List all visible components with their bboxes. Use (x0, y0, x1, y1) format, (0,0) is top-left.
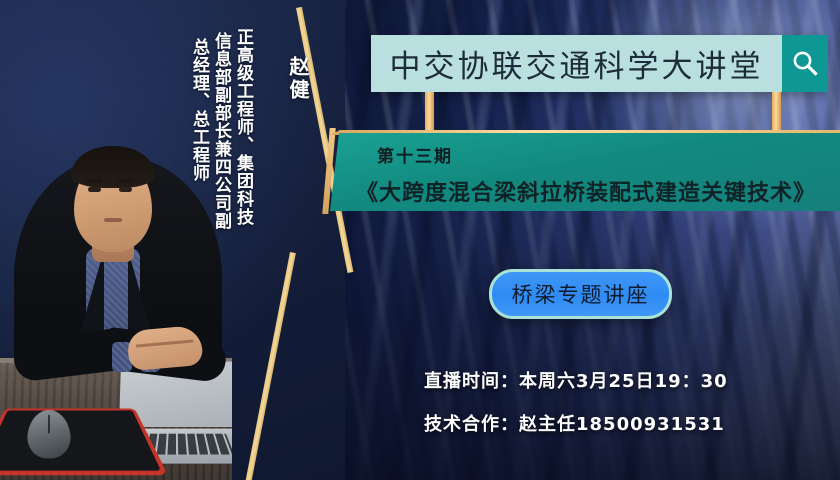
contact-info: 技术合作：赵主任18500931531 (424, 410, 725, 436)
search-button[interactable] (782, 35, 828, 92)
search-icon (790, 49, 820, 79)
webinar-poster: 总经理、总工程师 信息部副部长兼四公司副 正高级工程师、集团科技 赵健 中交协联… (0, 0, 840, 480)
category-pill-label: 桥梁专题讲座 (512, 279, 650, 309)
speaker-name: 赵健 (283, 56, 312, 102)
banner-post-right (772, 92, 781, 136)
banner-title-box: 中交协联交通科学大讲堂 (371, 35, 782, 92)
eyebrow-left (86, 179, 102, 183)
speaker-credential-3: 正高级工程师、集团科技 (231, 28, 256, 226)
broadcast-time: 直播时间：本周六3月25日19：30 (424, 367, 728, 393)
issue-label: 第十三期 (377, 142, 453, 167)
title-banner: 中交协联交通科学大讲堂 (371, 35, 828, 92)
hair (71, 146, 155, 188)
eyebrow-right (117, 179, 133, 183)
eye-right (119, 187, 132, 192)
category-pill[interactable]: 桥梁专题讲座 (489, 269, 672, 319)
banner-post-left (425, 92, 434, 136)
topic-title: 《大跨度混合梁斜拉桥装配式建造关键技术》 (336, 175, 836, 207)
banner-title-text: 中交协联交通科学大讲堂 (390, 41, 764, 86)
clasped-hands (126, 325, 203, 371)
mouth (104, 218, 122, 222)
eye-left (88, 187, 101, 192)
